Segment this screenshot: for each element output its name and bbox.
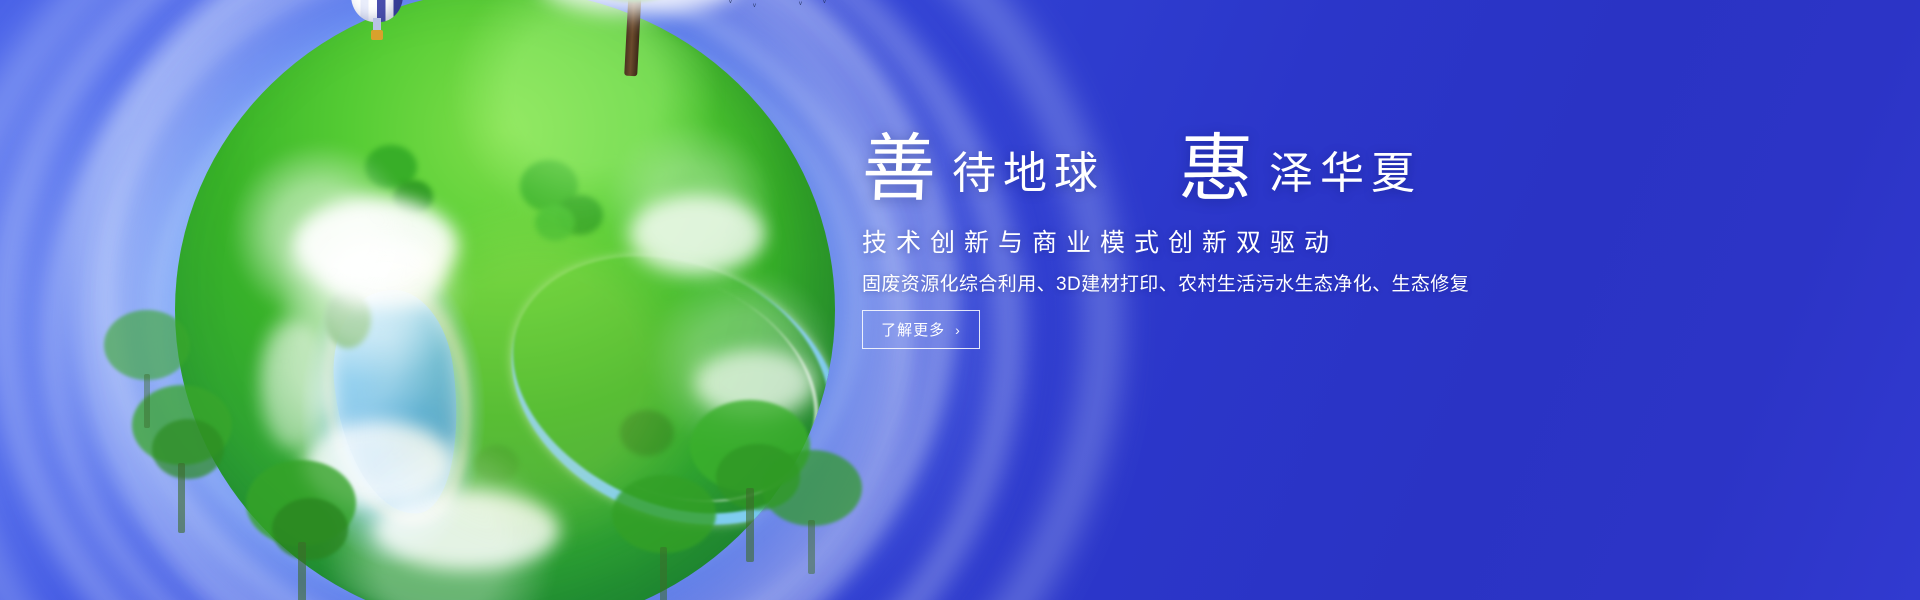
tree-clump (557, 195, 603, 235)
tree-clump (393, 180, 433, 214)
headline-phrase-two: 惠 泽华夏 (1179, 132, 1422, 206)
surface-cloud (260, 320, 330, 450)
tree-clump (325, 290, 371, 348)
headline-char-primary: 惠 (1178, 132, 1255, 206)
balloon-neck (373, 18, 381, 30)
chevron-right-icon: › (955, 323, 961, 337)
headline: 善 待地球 惠 泽华夏 (862, 132, 1422, 206)
balloon-basket (371, 30, 383, 40)
bird-icon: ᵛ (799, 0, 802, 9)
tree-clump (475, 445, 519, 483)
headline-chars-secondary: 待地球 (952, 148, 1105, 206)
surface-cloud (375, 490, 560, 570)
tree-clump (535, 205, 575, 241)
bird-icon: ᵛ (775, 0, 778, 3)
horizon-tree (238, 460, 368, 600)
horizon-tree (100, 310, 200, 440)
bird-icon: ᵛ (823, 0, 826, 7)
hero-banner: ᵛ ᵛ ᵛ ᵛ ᵛ ᵛ ᵛ ᵛ ᵛ ᵛ ᵛ 善 待地球 惠 泽华夏 技术创新与商… (0, 0, 1920, 600)
hot-air-balloon (351, 0, 403, 48)
banner-content: 善 待地球 惠 泽华夏 技术创新与商业模式创新双驱动 固废资源化综合利用、3D建… (862, 0, 1862, 600)
headline-phrase-one: 善 待地球 (862, 132, 1105, 206)
horizon-tree (606, 475, 726, 600)
tree-clump (620, 410, 674, 456)
banner-subtitle: 技术创新与商业模式创新双驱动 (862, 228, 1338, 258)
surface-cloud (630, 195, 765, 273)
horizon-tree (756, 450, 876, 580)
headline-chars-secondary: 泽华夏 (1269, 148, 1422, 206)
learn-more-label: 了解更多 (881, 319, 945, 340)
surface-cloud (293, 198, 458, 293)
headline-char-primary: 善 (861, 132, 938, 206)
bird-icon: ᵛ (753, 2, 756, 11)
learn-more-button[interactable]: 了解更多 › (862, 310, 980, 349)
surface-cloud (325, 240, 445, 312)
bird-icon: ᵛ (707, 0, 710, 1)
banner-description: 固废资源化综合利用、3D建材打印、农村生活污水生态净化、生态修复 (862, 272, 1469, 298)
flying-birds-flock: ᵛ ᵛ ᵛ ᵛ ᵛ ᵛ ᵛ ᵛ ᵛ ᵛ ᵛ (705, 0, 835, 18)
tree-clump (365, 145, 417, 189)
tree-clump (520, 160, 578, 212)
green-earth-tiny-planet: ᵛ ᵛ ᵛ ᵛ ᵛ ᵛ ᵛ ᵛ ᵛ ᵛ ᵛ (120, 0, 900, 600)
bird-icon: ᵛ (729, 0, 732, 7)
